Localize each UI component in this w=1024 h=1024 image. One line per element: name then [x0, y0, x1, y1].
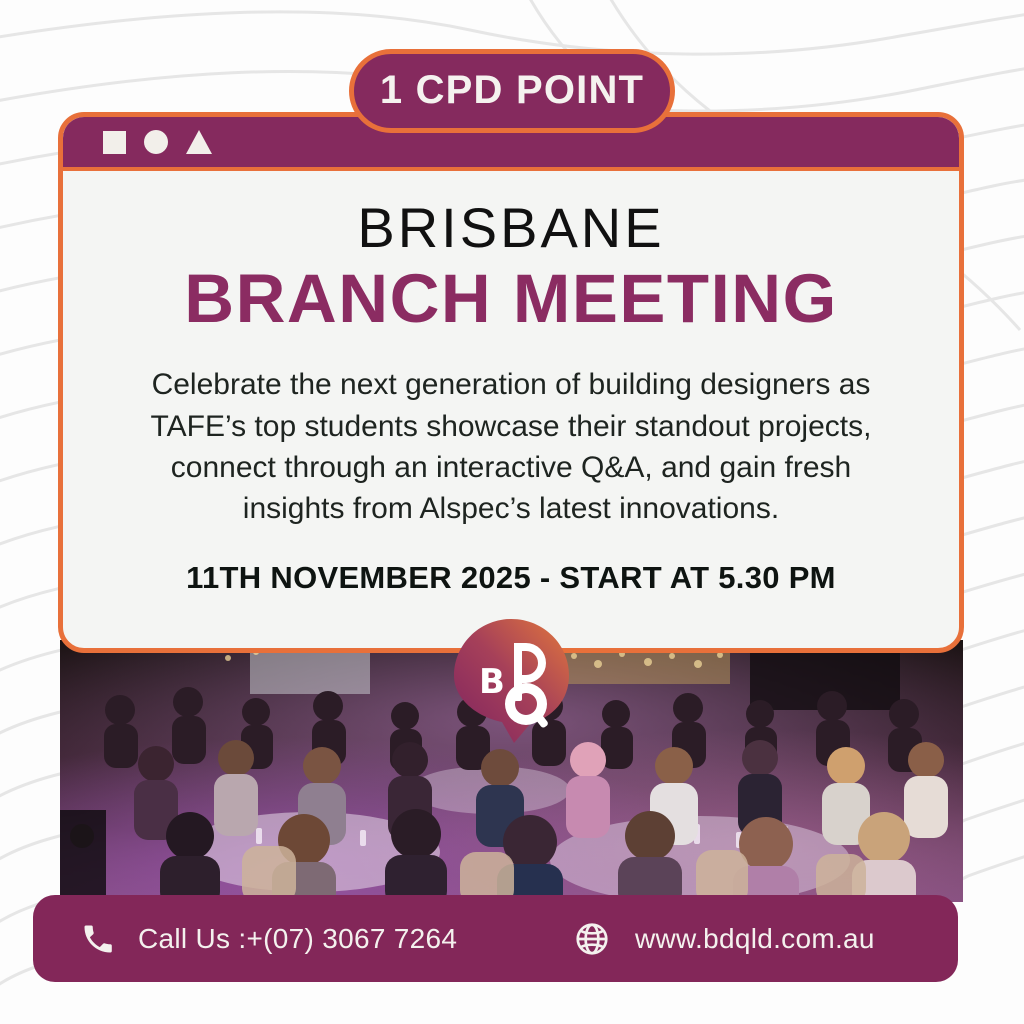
- city-title: BRISBANE: [117, 197, 905, 260]
- footer-website-group[interactable]: www.bdqld.com.au: [573, 920, 875, 958]
- square-shape-icon: [103, 131, 126, 154]
- content-card: BRISBANE BRANCH MEETING Celebrate the ne…: [58, 112, 964, 653]
- footer-phone-group[interactable]: Call Us :+(07) 3067 7264: [33, 921, 573, 957]
- phone-icon: [80, 921, 116, 957]
- card-body: BRISBANE BRANCH MEETING Celebrate the ne…: [63, 171, 959, 596]
- cpd-point-label: 1 CPD POINT: [380, 70, 644, 112]
- circle-shape-icon: [144, 130, 168, 154]
- footer-website-label: www.bdqld.com.au: [635, 923, 875, 955]
- poster-canvas: BRISBANE BRANCH MEETING Celebrate the ne…: [0, 0, 1024, 1024]
- cpd-point-badge: 1 CPD POINT: [349, 49, 675, 133]
- event-description: Celebrate the next generation of buildin…: [117, 364, 905, 530]
- bdq-logo: B: [452, 617, 571, 745]
- triangle-shape-icon: [186, 130, 212, 154]
- event-datetime: 11TH NOVEMBER 2025 - START AT 5.30 PM: [117, 560, 905, 596]
- footer-contact-bar: Call Us :+(07) 3067 7264 www.bdqld.com.a…: [33, 895, 958, 982]
- event-title: BRANCH MEETING: [117, 262, 905, 337]
- footer-phone-label: Call Us :+(07) 3067 7264: [138, 923, 457, 955]
- globe-icon: [573, 920, 611, 958]
- svg-text:B: B: [479, 662, 505, 702]
